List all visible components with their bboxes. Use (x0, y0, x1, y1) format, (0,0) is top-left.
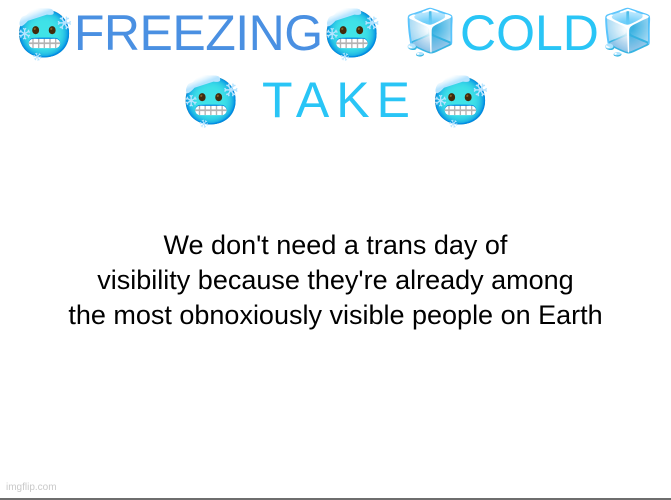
cold-face-emoji: 🥶 (323, 10, 382, 57)
cold-face-emoji: 🥶 (15, 10, 74, 57)
meme-canvas: 🥶 FREEZING 🥶 🧊 COLD 🧊 🥶 TAKE 🥶 We don't … (0, 0, 671, 500)
header-word-cold: COLD (460, 8, 599, 58)
header-line-2: 🥶 TAKE 🥶 (0, 64, 671, 132)
header-word-take: TAKE (262, 75, 417, 125)
ice-cube-emoji: 🧊 (403, 11, 458, 55)
meme-header-banner: 🥶 FREEZING 🥶 🧊 COLD 🧊 🥶 TAKE 🥶 (0, 0, 671, 132)
ice-cube-emoji: 🧊 (601, 11, 656, 55)
caption-line: visibility because they're already among (0, 263, 671, 298)
imgflip-watermark: imgflip.com (6, 483, 57, 493)
meme-caption: We don't need a trans day of visibility … (0, 228, 671, 333)
cold-face-emoji: 🥶 (431, 77, 490, 124)
header-word-freezing: FREEZING (74, 8, 323, 58)
cold-face-emoji: 🥶 (182, 77, 241, 124)
header-line-1: 🥶 FREEZING 🥶 🧊 COLD 🧊 (0, 0, 671, 64)
caption-line: We don't need a trans day of (0, 228, 671, 263)
caption-line: the most obnoxiously visible people on E… (0, 298, 671, 333)
